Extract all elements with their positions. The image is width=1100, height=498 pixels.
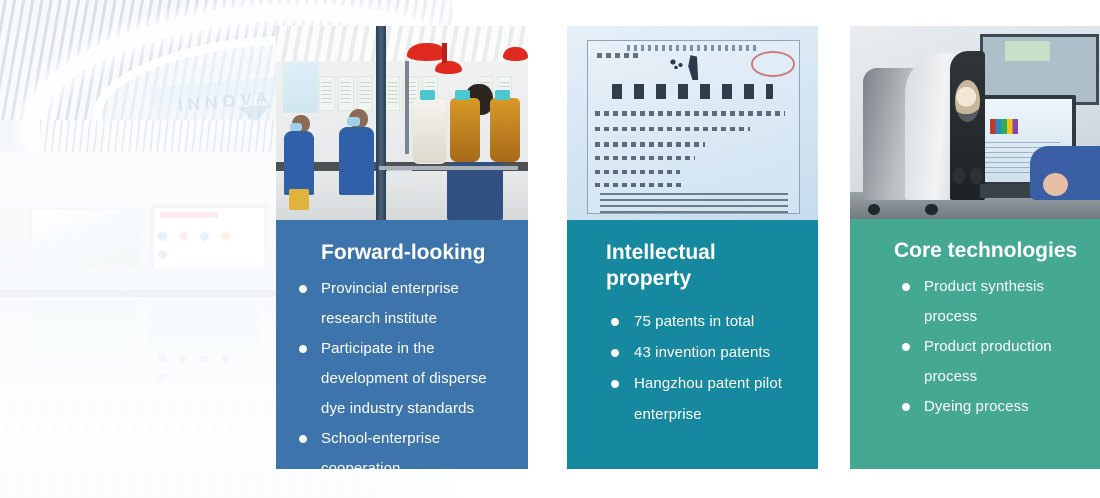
card-core-technologies-list: Product synthesis process Product produc… <box>872 272 1082 422</box>
card-intellectual-property[interactable]: Intellectual property 75 patents in tota… <box>567 26 818 469</box>
display-panel-icons <box>158 228 252 237</box>
list-item-label: Provincial enterprise research institute <box>321 280 459 327</box>
list-item-label: Product production process <box>924 338 1052 385</box>
bullet-icon <box>299 435 307 443</box>
page-root: INNOVA <box>0 0 1100 498</box>
list-item-label: Hangzhou patent pilot enterprise <box>634 375 782 423</box>
card-intellectual-property-title: Intellectual property <box>589 240 800 293</box>
card-forward-looking-photo <box>276 26 528 220</box>
list-item: Provincial enterprise research institute <box>298 274 510 334</box>
list-item-label: 75 patents in total <box>634 313 754 330</box>
bullet-icon <box>902 343 910 351</box>
bullet-icon <box>611 349 619 357</box>
list-item: Product synthesis process <box>872 272 1082 332</box>
card-intellectual-property-panel: Intellectual property 75 patents in tota… <box>567 220 818 469</box>
certificate-title-cn <box>612 84 773 99</box>
list-item: School-enterprise cooperation <box>298 424 510 484</box>
card-forward-looking-panel: Forward-looking Provincial enterprise re… <box>276 220 528 469</box>
bullet-icon <box>299 345 307 353</box>
card-core-technologies-title: Core technologies <box>872 238 1082 264</box>
card-core-technologies-photo <box>850 26 1100 219</box>
list-item-label: Participate in the development of disper… <box>321 340 487 417</box>
display-panel-left <box>30 208 142 270</box>
floor-reflection-icons <box>158 350 254 358</box>
bullet-icon <box>611 380 619 388</box>
card-forward-looking[interactable]: Forward-looking Provincial enterprise re… <box>276 26 528 469</box>
list-item: Participate in the development of disper… <box>298 334 510 424</box>
card-intellectual-property-list: 75 patents in total 43 invention patents… <box>589 306 800 430</box>
list-item-label: School-enterprise cooperation <box>321 430 440 477</box>
card-intellectual-property-photo <box>567 26 818 220</box>
card-forward-looking-title: Forward-looking <box>298 240 510 266</box>
red-seal-icon <box>751 51 795 76</box>
list-item-label: Dyeing process <box>924 398 1029 415</box>
bullet-icon <box>299 285 307 293</box>
bullet-icon <box>902 403 910 411</box>
display-panel-header <box>160 212 218 218</box>
list-item-label: 43 invention patents <box>634 344 770 361</box>
list-item: Product production process <box>872 332 1082 392</box>
card-core-technologies-panel: Core technologies Product synthesis proc… <box>850 219 1100 469</box>
list-item: Hangzhou patent pilot enterprise <box>589 368 800 430</box>
floor-reflection-left <box>32 300 138 372</box>
list-item: 43 invention patents <box>589 337 800 368</box>
bullet-icon <box>611 318 619 326</box>
bullet-icon <box>902 283 910 291</box>
card-core-technologies[interactable]: Core technologies Product synthesis proc… <box>850 26 1100 469</box>
card-forward-looking-list: Provincial enterprise research institute… <box>298 274 510 484</box>
list-item-label: Product synthesis process <box>924 278 1044 325</box>
list-item: Dyeing process <box>872 392 1082 422</box>
list-item: 75 patents in total <box>589 306 800 337</box>
